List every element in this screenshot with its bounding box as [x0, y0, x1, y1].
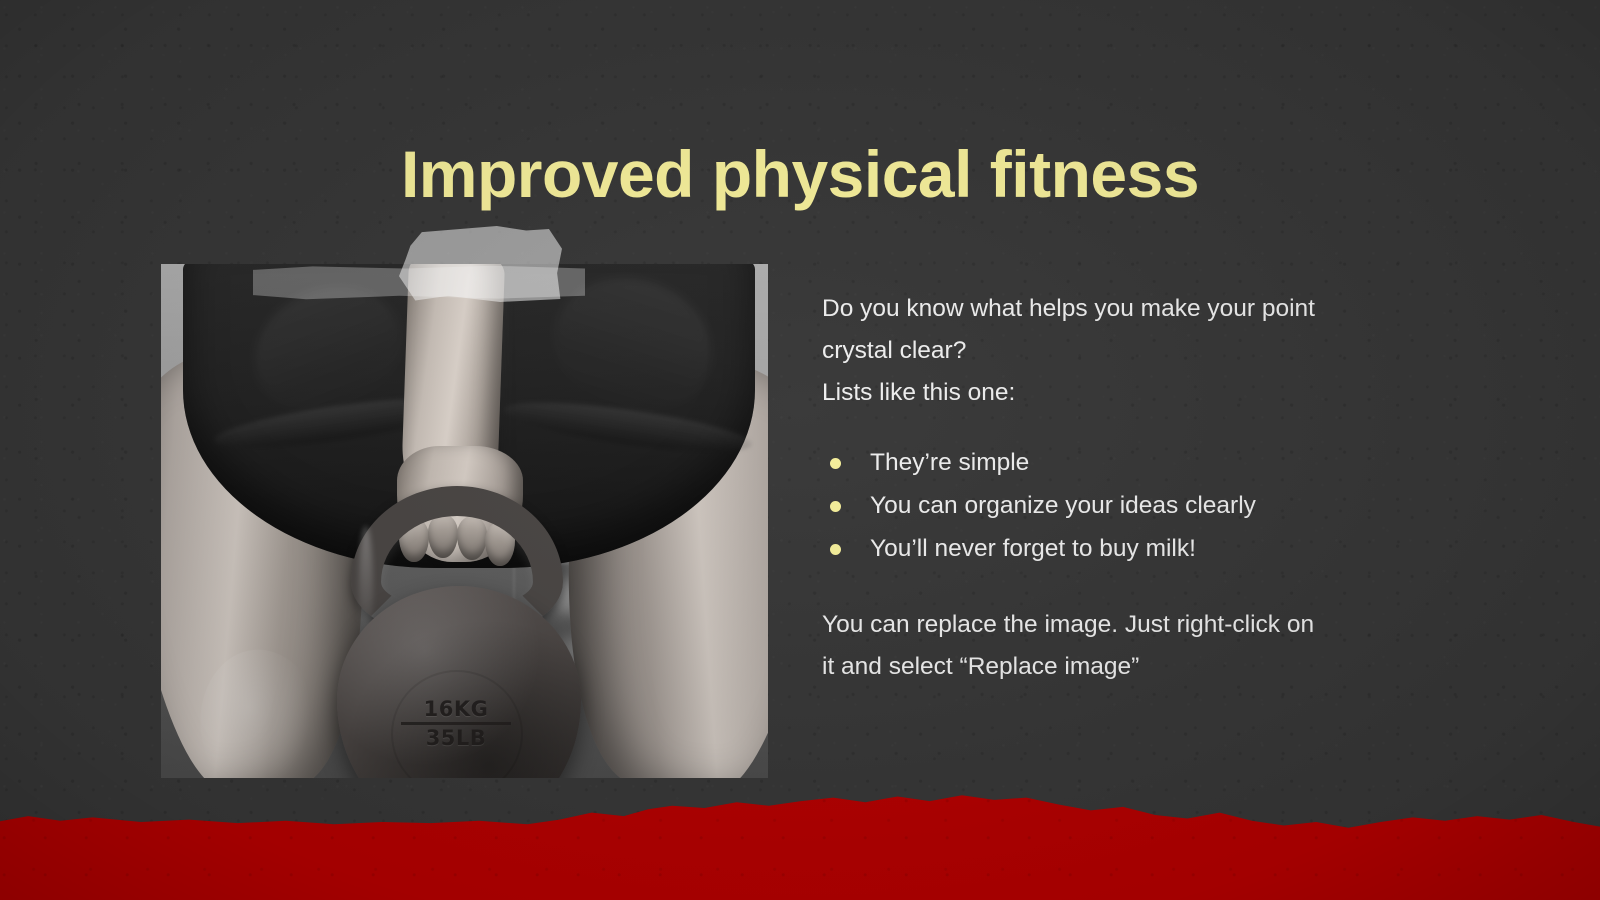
red-band-grain-texture	[0, 786, 1600, 900]
kettlebell-weight-kg: 16KG	[401, 698, 511, 721]
list-item: You’ll never forget to buy milk!	[822, 528, 1422, 570]
outro-line: You can replace the image. Just right-cl…	[822, 604, 1422, 646]
bullet-dot-icon	[830, 501, 841, 512]
list-item-label: You’ll never forget to buy milk!	[870, 535, 1196, 562]
outro-line: it and select “Replace image”	[822, 646, 1422, 688]
kettlebell-stamp-rule	[401, 722, 511, 725]
kettlebell-weight-lb: 35LB	[401, 727, 511, 750]
list-item-label: You can organize your ideas clearly	[870, 492, 1256, 519]
intro-line: Lists like this one:	[822, 372, 1422, 414]
red-torn-paper-band	[0, 786, 1600, 900]
intro-line: Do you know what helps you make your poi…	[822, 288, 1422, 330]
photo-kettlebell[interactable]: 16KG 35LB	[161, 264, 768, 778]
intro-line: crystal clear?	[822, 330, 1422, 372]
bullet-dot-icon	[830, 458, 841, 469]
outro-paragraph: You can replace the image. Just right-cl…	[822, 604, 1422, 688]
page-title: Improved physical fitness	[0, 140, 1600, 210]
slide: Improved physical fitness	[0, 0, 1600, 900]
list-item: They’re simple	[822, 442, 1422, 484]
photo-kettlebell-stamp: 16KG 35LB	[401, 698, 511, 749]
intro-paragraph: Do you know what helps you make your poi…	[822, 288, 1422, 414]
photo-scene: 16KG 35LB	[161, 264, 768, 778]
bullet-dot-icon	[830, 544, 841, 555]
photo-left-knee	[194, 645, 327, 778]
list-item: You can organize your ideas clearly	[822, 485, 1422, 527]
list-item-label: They’re simple	[870, 449, 1029, 476]
bullet-list: They’re simple You can organize your ide…	[822, 442, 1422, 570]
body-text-column: Do you know what helps you make your poi…	[822, 288, 1422, 688]
